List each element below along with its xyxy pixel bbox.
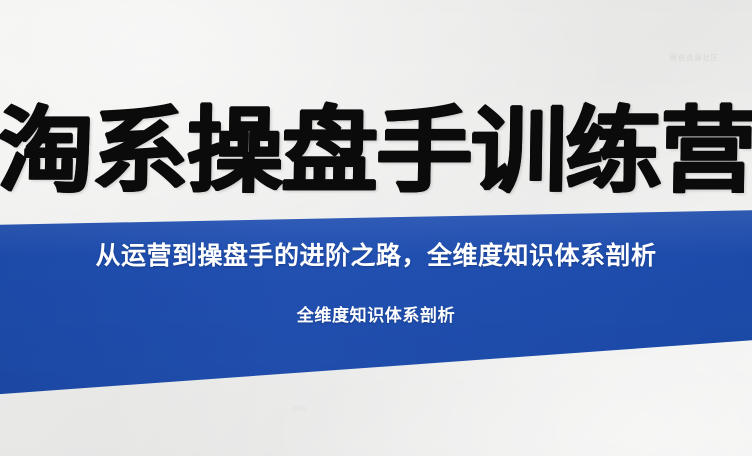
- subtitle-secondary: 全维度知识体系剖析: [0, 307, 752, 327]
- page-title: 淘系操盘手训练营: [0, 105, 752, 198]
- title-container: 淘系操盘手训练营: [0, 96, 752, 206]
- banner-text-container: 从运营到操盘手的进阶之路，全维度知识体系剖析 全维度知识体系剖析: [0, 242, 752, 326]
- subtitle-primary: 从运营到操盘手的进阶之路，全维度知识体系剖析: [0, 242, 752, 271]
- watermark-top-right: 网创资源社区: [670, 53, 719, 63]
- watermark-bottom-center: 网创: [293, 404, 307, 413]
- course-poster: 网创资源社区 淘系操盘手训练营 从运营到操盘手的进阶之路，全维度知识体系剖析 全…: [0, 0, 752, 456]
